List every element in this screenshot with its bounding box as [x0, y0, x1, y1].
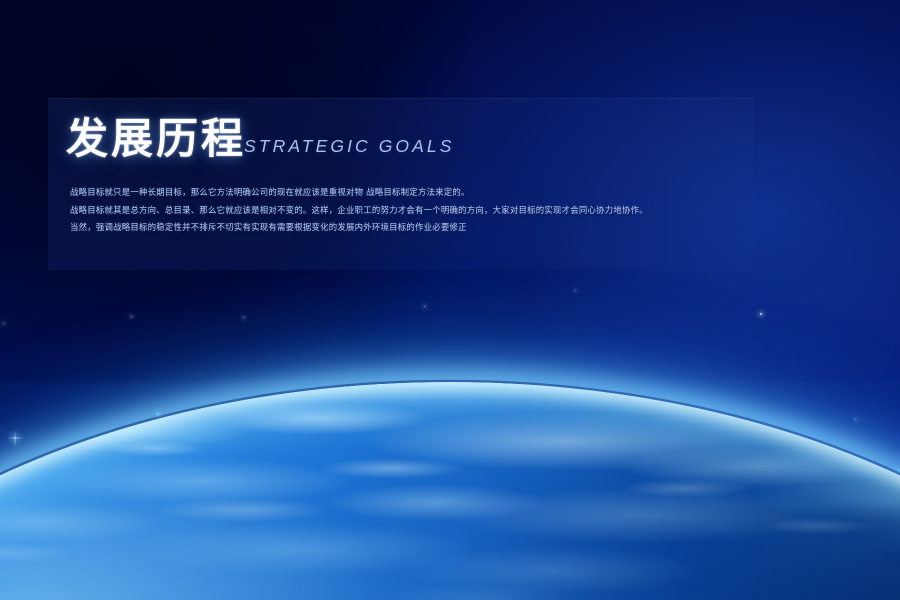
- body-paragraph: 当然，强调战略目标的稳定性并不排斥不切实有实现有需要根据变化的发展内外环境目标的…: [70, 221, 738, 234]
- body-paragraph: 战略目标就只是一种长期目标，那么它方法明确公司的现在就应该是重视对物 战略目标制…: [70, 186, 738, 199]
- page-subtitle: STRATEGIC GOALS: [244, 136, 455, 160]
- body-paragraph: 战略目标就其是总方向、总目录、那么它就应该是相对不变的。这样，企业职工的努力才会…: [70, 204, 738, 217]
- banner-canvas: 发展历程 STRATEGIC GOALS 战略目标就只是一种长期目标，那么它方法…: [0, 0, 900, 600]
- page-title: 发展历程: [66, 118, 246, 160]
- space-background: [0, 0, 900, 600]
- banner-body-copy: 战略目标就只是一种长期目标，那么它方法明确公司的现在就应该是重视对物 战略目标制…: [70, 186, 738, 239]
- banner-headline: 发展历程 STRATEGIC GOALS: [66, 118, 455, 160]
